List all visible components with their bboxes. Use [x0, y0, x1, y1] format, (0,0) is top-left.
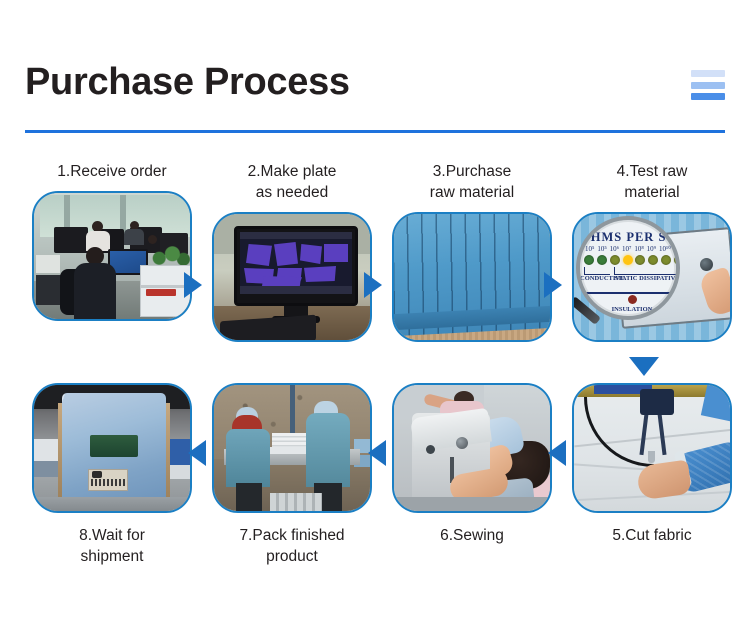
- arrow-step3-to-step4-icon: [544, 272, 562, 298]
- step-7-image[interactable]: [212, 383, 372, 513]
- step-2-image[interactable]: [212, 212, 372, 342]
- meter-title: OHMS PER SQUARE: [580, 230, 680, 245]
- step-1-label: 1.Receive order: [28, 158, 196, 182]
- surface-resistance-meter-photo: OHMS PER SQUARE 10⁵ 10⁵ 10⁶ 10⁷ 10⁸ 10⁹ …: [574, 214, 730, 340]
- arrow-step6-to-step7-icon: [368, 440, 386, 466]
- meter-zone-dissipative: STATIC DISSIPATIVE: [612, 275, 680, 282]
- hamburger-bar-top: [691, 70, 725, 77]
- step-4-image[interactable]: OHMS PER SQUARE 10⁵ 10⁵ 10⁶ 10⁷ 10⁸ 10⁹ …: [572, 212, 732, 342]
- process-step-5[interactable]: 5.Cut fabric: [562, 383, 742, 588]
- hamburger-bar-bottom: [691, 93, 725, 100]
- meter-zone-conductive: CONDUCTIVE: [580, 275, 616, 282]
- process-step-1[interactable]: 1.Receive order: [22, 158, 202, 358]
- title-divider: [25, 130, 725, 133]
- arrow-step4-to-step5-icon: [629, 357, 659, 376]
- step-4-label: 4.Test raw material: [568, 158, 736, 203]
- step-3-label: 3.Purchase raw material: [388, 158, 556, 203]
- arrow-step5-to-step6-icon: [548, 440, 566, 466]
- office-order-desk-photo: [34, 193, 190, 319]
- step-5-label: 5.Cut fabric: [568, 525, 736, 546]
- blue-striped-fabric-photo: [394, 214, 550, 340]
- step-5-image[interactable]: [572, 383, 732, 513]
- step-3-image[interactable]: [392, 212, 552, 342]
- process-row-bottom: 8.Wait for shipment: [0, 383, 750, 588]
- meter-exponent-scale: 10⁵ 10⁵ 10⁶ 10⁷ 10⁸ 10⁹ 10¹⁰ 10¹¹: [583, 245, 680, 253]
- step-6-label: 6.Sewing: [388, 525, 556, 546]
- process-step-7[interactable]: 7.Pack finished product: [202, 383, 382, 588]
- page-header: Purchase Process: [25, 58, 725, 136]
- packaged-garment-bag-photo: [34, 385, 190, 511]
- packing-workers-photo: [214, 385, 370, 511]
- step-8-label: 8.Wait for shipment: [28, 525, 196, 567]
- arrow-step7-to-step8-icon: [188, 440, 206, 466]
- step-2-label: 2.Make plate as needed: [208, 158, 376, 203]
- cad-pattern-monitor-photo: [214, 214, 370, 340]
- hamburger-bar-middle: [691, 82, 725, 89]
- hamburger-menu-icon[interactable]: [691, 70, 725, 100]
- process-row-top: 1.Receive order: [0, 158, 750, 358]
- arrow-step1-to-step2-icon: [184, 272, 202, 298]
- process-step-3[interactable]: 3.Purchase raw material: [382, 158, 562, 358]
- arrow-step2-to-step3-icon: [364, 272, 382, 298]
- step-7-label: 7.Pack finished product: [208, 525, 376, 567]
- meter-led-row: [582, 255, 680, 265]
- step-8-image[interactable]: [32, 383, 192, 513]
- magnifier-lens: OHMS PER SQUARE 10⁵ 10⁵ 10⁶ 10⁷ 10⁸ 10⁹ …: [576, 216, 680, 320]
- meter-zone-insulation: INSULATION: [580, 306, 680, 313]
- purchase-process-page: Purchase Process 1.Receive order: [0, 0, 750, 642]
- automatic-fabric-cutting-photo: [574, 385, 730, 511]
- process-step-4[interactable]: 4.Test raw material OHMS PER SQUARE 10⁵ …: [562, 158, 742, 358]
- process-step-2[interactable]: 2.Make plate as needed: [202, 158, 382, 358]
- sewing-machine-worker-photo: [394, 385, 550, 511]
- process-step-6[interactable]: 6.Sewing: [382, 383, 562, 588]
- step-6-image[interactable]: [392, 383, 552, 513]
- page-title: Purchase Process: [25, 58, 725, 106]
- process-step-8[interactable]: 8.Wait for shipment: [22, 383, 202, 588]
- step-1-image[interactable]: [32, 191, 192, 321]
